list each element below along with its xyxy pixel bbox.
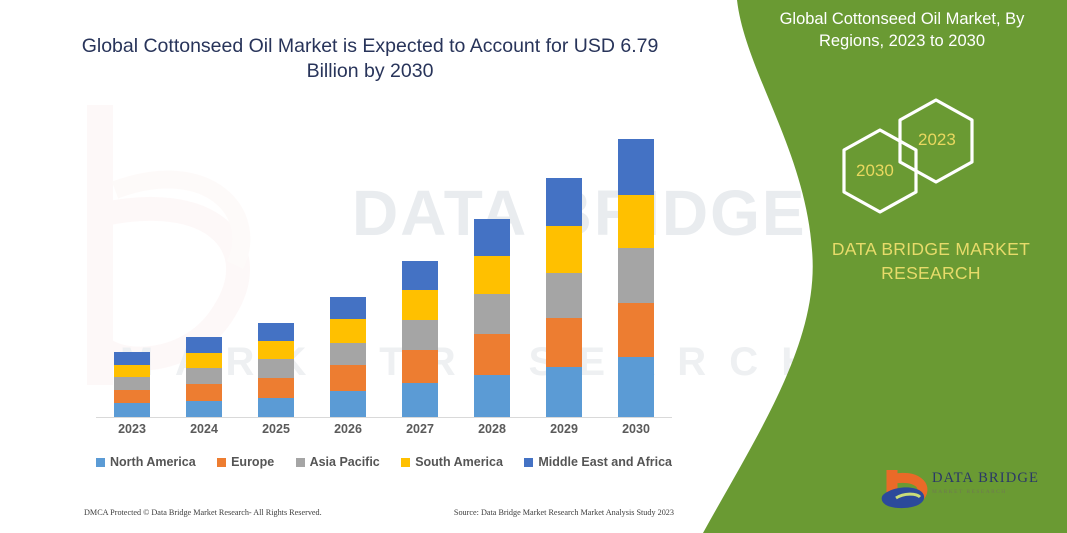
legend-swatch [96, 458, 105, 467]
bar-segment [114, 377, 150, 390]
panel-title: Global Cottonseed Oil Market, By Regions… [752, 8, 1052, 53]
bar-column [402, 261, 438, 417]
hexagon-2023-label: 2023 [918, 130, 956, 150]
legend-label: Europe [231, 455, 274, 469]
bar-segment [114, 403, 150, 417]
bar-segment [618, 303, 654, 357]
footer: DMCA Protected © Data Bridge Market Rese… [84, 508, 674, 517]
x-axis-tick-label: 2029 [528, 422, 600, 436]
x-axis-tick-label: 2028 [456, 422, 528, 436]
x-axis-tick-label: 2023 [96, 422, 168, 436]
x-axis-tick-label: 2027 [384, 422, 456, 436]
logo-tagline: MARKET RESEARCH [932, 489, 1007, 495]
bar-column [546, 178, 582, 417]
bar-segment [330, 297, 366, 319]
legend-item[interactable]: Asia Pacific [296, 455, 380, 469]
bar-segment [402, 350, 438, 383]
bar-column [186, 337, 222, 417]
bar-segment [474, 375, 510, 417]
bar-segment [618, 195, 654, 248]
bar-segment [474, 334, 510, 375]
bar-segment [258, 378, 294, 397]
legend-label: South America [415, 455, 503, 469]
bar-segment [330, 365, 366, 391]
legend-label: Asia Pacific [310, 455, 380, 469]
bar-segment [186, 401, 222, 418]
x-axis-line [96, 417, 672, 418]
x-axis-labels: 20232024202520262027202820292030 [96, 422, 672, 446]
bar-segment [258, 398, 294, 417]
bar-segment [186, 368, 222, 385]
bar-segment [402, 261, 438, 290]
infographic-root: DATA BRIDGE M A R K E T R E S E A R C H … [0, 0, 1067, 533]
bar-segment [186, 384, 222, 401]
chart-legend: North AmericaEuropeAsia PacificSouth Ame… [96, 455, 672, 469]
bar-segment [618, 139, 654, 195]
bar-segment [258, 341, 294, 360]
bar-segment [402, 290, 438, 320]
bar-segment [402, 320, 438, 350]
logo-wordmark: DATA BRIDGE [932, 470, 1039, 487]
footer-source: Source: Data Bridge Market Research Mark… [454, 508, 674, 517]
hexagon-pair [818, 96, 998, 216]
legend-label: North America [110, 455, 196, 469]
x-axis-tick-label: 2026 [312, 422, 384, 436]
bar-column [330, 297, 366, 417]
bar-segment [258, 323, 294, 341]
bar-segment [474, 219, 510, 257]
legend-item[interactable]: Europe [217, 455, 274, 469]
bar-segment [330, 391, 366, 417]
bar-segment [186, 337, 222, 353]
x-axis-tick-label: 2030 [600, 422, 672, 436]
bar-segment [618, 357, 654, 417]
bar-column [618, 139, 654, 417]
page-title: Global Cottonseed Oil Market is Expected… [60, 34, 680, 85]
footer-copyright: DMCA Protected © Data Bridge Market Rese… [84, 508, 322, 517]
bar-segment [474, 294, 510, 334]
bar-segment [114, 352, 150, 365]
bar-segment [474, 256, 510, 294]
bar-segment [114, 365, 150, 377]
legend-swatch [524, 458, 533, 467]
bar-segment [402, 383, 438, 417]
x-axis-tick-label: 2025 [240, 422, 312, 436]
chart-plot-area [96, 120, 672, 417]
bar-column [258, 323, 294, 417]
legend-item[interactable]: South America [401, 455, 503, 469]
bar-column [474, 219, 510, 417]
bar-segment [546, 367, 582, 417]
bar-segment [546, 273, 582, 319]
bar-segment [330, 319, 366, 343]
stacked-bar-chart: 20232024202520262027202820292030 [96, 120, 672, 420]
bar-segment [114, 390, 150, 403]
bar-segment [546, 226, 582, 273]
legend-item[interactable]: Middle East and Africa [524, 455, 672, 469]
bar-segment [330, 343, 366, 366]
legend-swatch [217, 458, 226, 467]
bar-segment [618, 248, 654, 302]
legend-swatch [401, 458, 410, 467]
legend-item[interactable]: North America [96, 455, 196, 469]
x-axis-tick-label: 2024 [168, 422, 240, 436]
legend-label: Middle East and Africa [538, 455, 672, 469]
hexagon-2030-label: 2030 [856, 161, 894, 181]
bar-segment [546, 318, 582, 366]
brand-name: DATA BRIDGE MARKET RESEARCH [800, 238, 1062, 285]
legend-swatch [296, 458, 305, 467]
bar-segment [258, 359, 294, 378]
bar-segment [186, 353, 222, 368]
bar-segment [546, 178, 582, 226]
bar-column [114, 352, 150, 417]
